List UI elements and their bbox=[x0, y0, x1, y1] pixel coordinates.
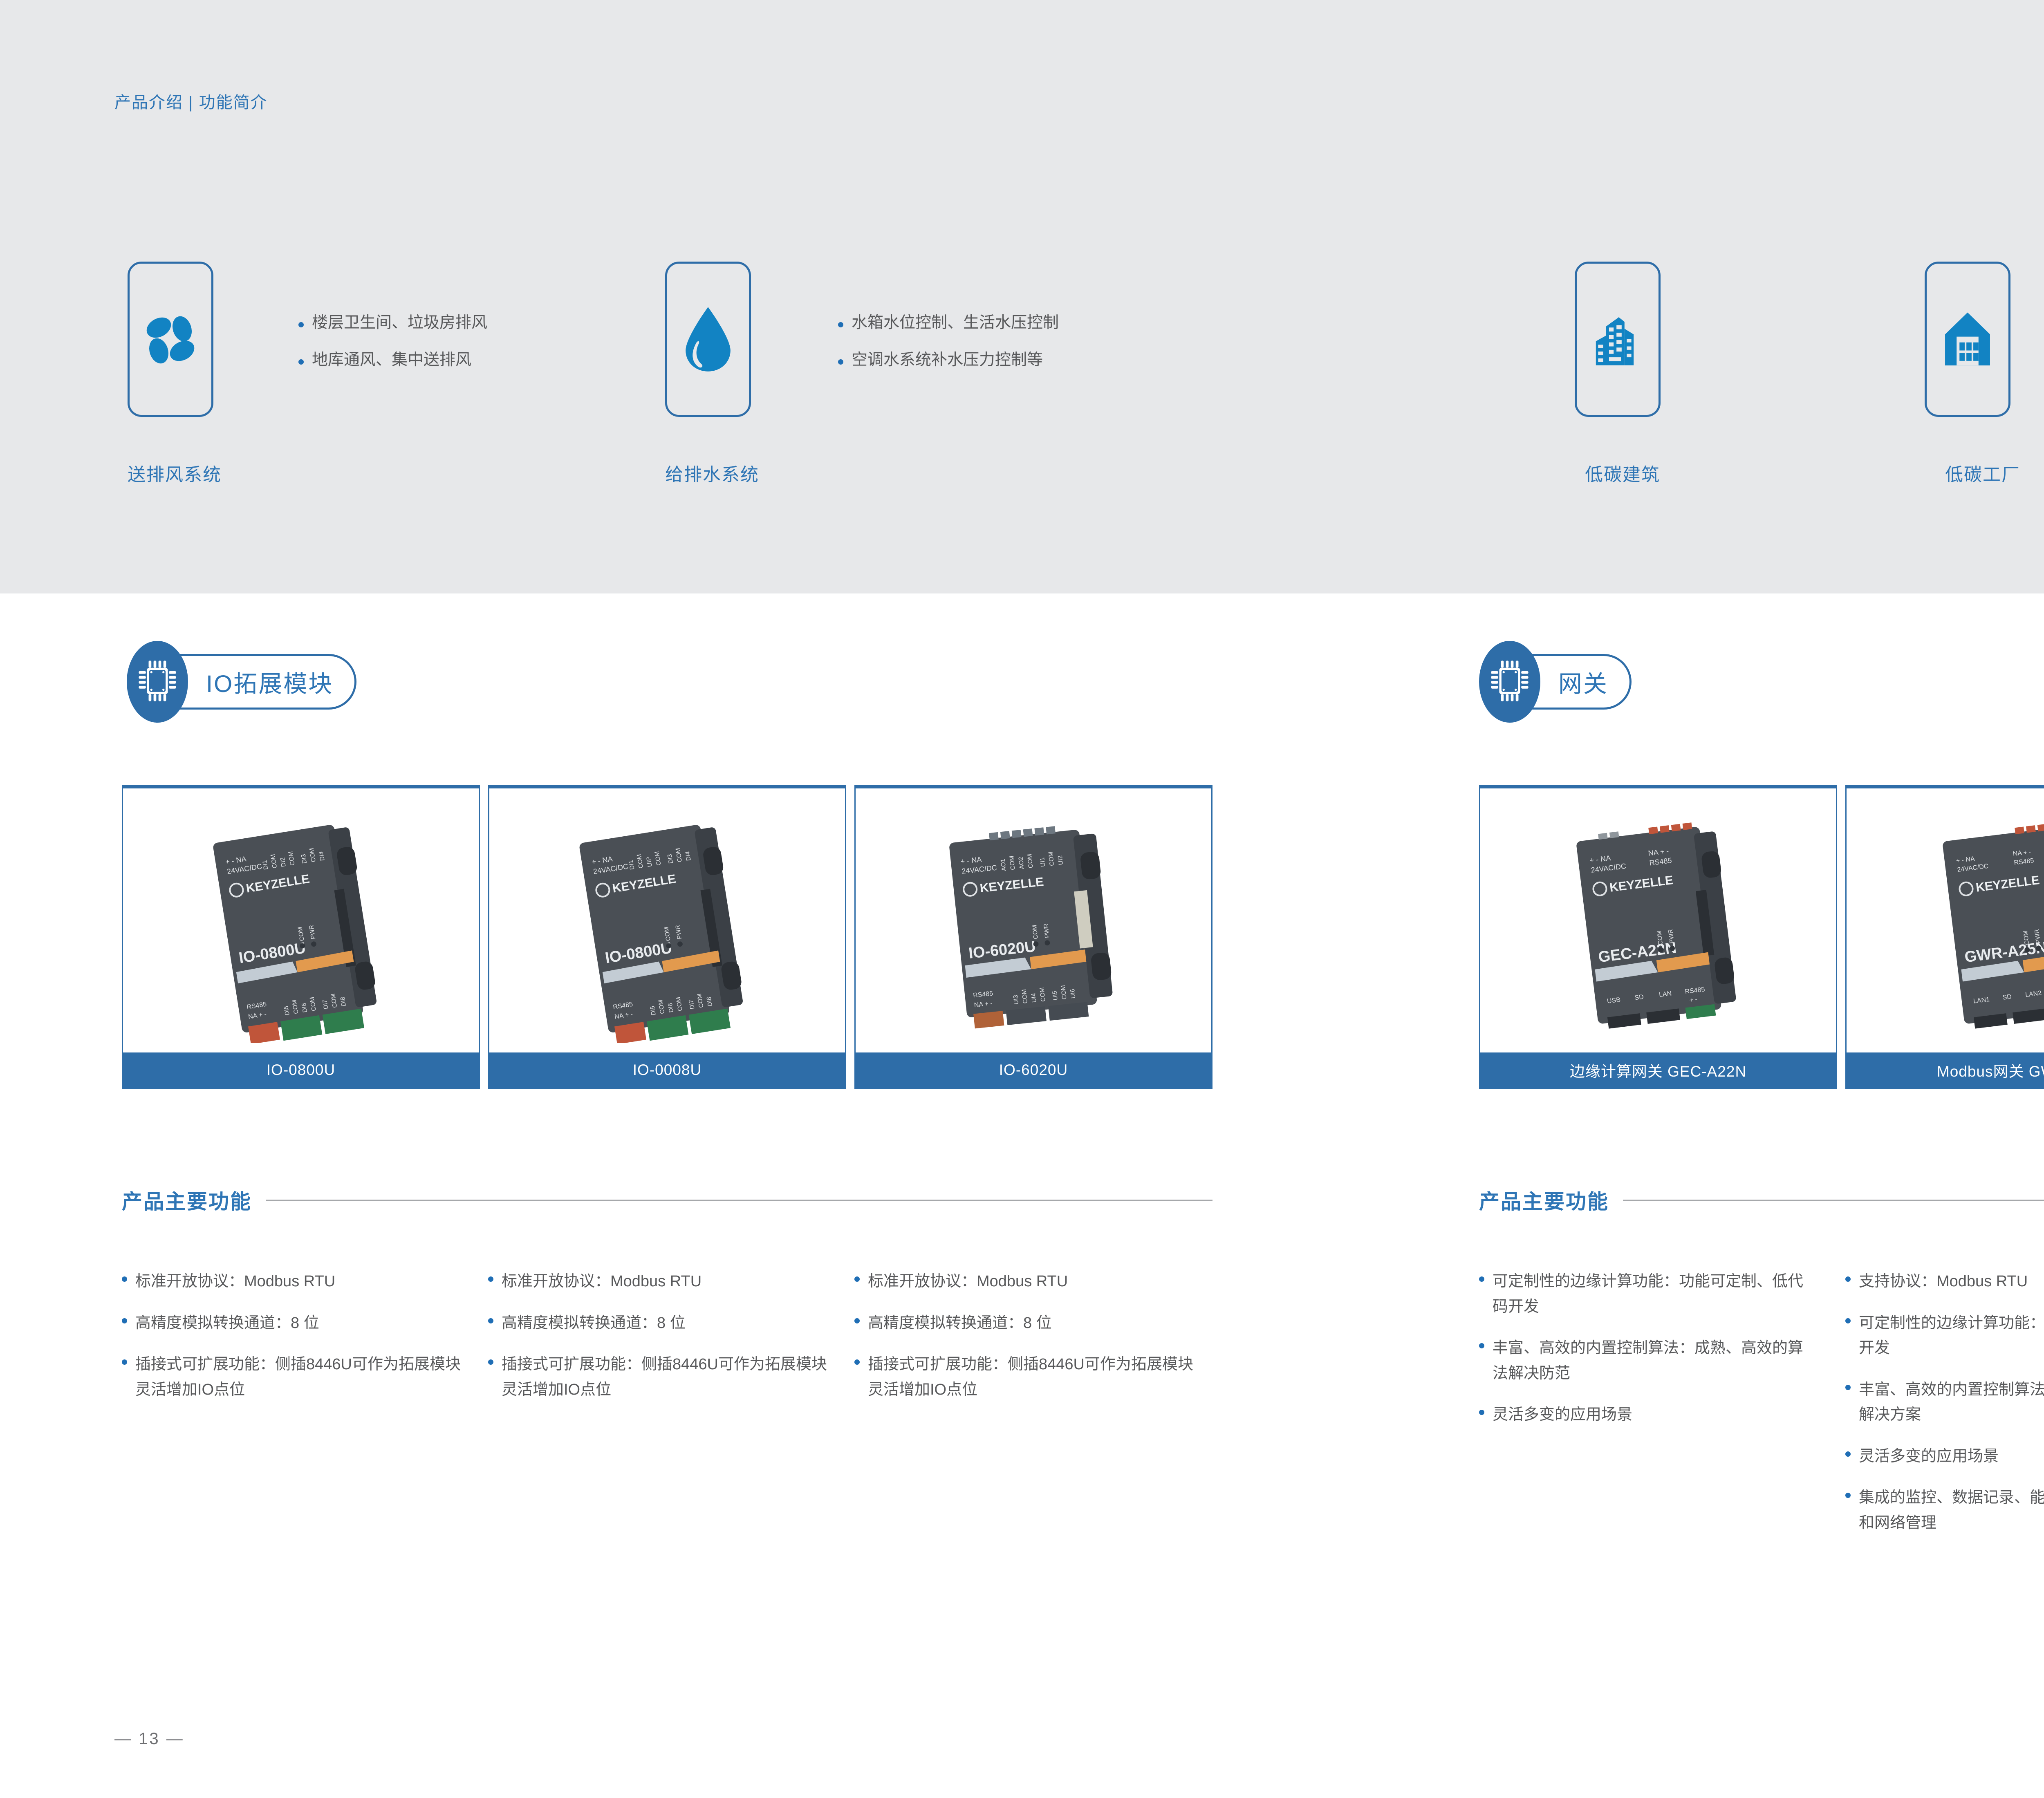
bullet-dot bbox=[1845, 1493, 1851, 1498]
product-image-gwr-a25n: + - NA 24VAC/DC NA + - RS485 KEYZELLE GW… bbox=[1847, 788, 2044, 1052]
feature-item: 灵活多变的应用场景 bbox=[1845, 1444, 2044, 1469]
bullet-dot bbox=[1845, 1385, 1851, 1390]
svg-text:UI2: UI2 bbox=[1057, 855, 1065, 865]
bullet-dot bbox=[854, 1318, 860, 1323]
product-label-gec-a22n: 边缘计算网关 GEC-A22N bbox=[1480, 1052, 1836, 1088]
feature-item: 集成的监控、数据记录、能耗计量、报警、调度和网络管理 bbox=[1845, 1485, 2044, 1536]
svg-text:AO2: AO2 bbox=[1018, 856, 1026, 869]
bullet-dot bbox=[122, 1318, 127, 1323]
feature-item: 可定制性的边缘计算功能：功能可定制、低代码开发 bbox=[1479, 1269, 1818, 1319]
bullet-dot bbox=[1479, 1410, 1484, 1415]
svg-text:DI3: DI3 bbox=[300, 853, 308, 864]
feature-text: 插接式可扩展功能：侧插8446U可作为拓展模块灵活增加IO点位 bbox=[135, 1352, 461, 1402]
product-card-io-6020u[interactable]: + - NA 24VAC/DC AO1 COM AO2 COM UI1 COM … bbox=[854, 785, 1213, 1089]
product-card-io-0800u[interactable]: + - NA 24VAC/DC DI1 COM DI2 COM DI3 COM … bbox=[122, 785, 480, 1089]
product-card-gec-a22n[interactable]: + - NA 24VAC/DC NA + - RS485 KEYZELLE GE… bbox=[1479, 785, 1837, 1089]
bullet-dot bbox=[838, 359, 843, 365]
office-building-icon-card bbox=[1575, 262, 1661, 417]
bullet-item: 地库通风、集中送排风 bbox=[298, 352, 487, 368]
feature-text: 可定制性的边缘计算功能：功能可定制、低代码开发 bbox=[1859, 1311, 2044, 1361]
svg-text:DI8: DI8 bbox=[706, 996, 714, 1007]
device-illustration: + - NA 24VAC/DC NA + - RS485 KEYZELLE GE… bbox=[1535, 798, 1781, 1043]
product-label-io-6020u: IO-6020U bbox=[856, 1052, 1211, 1088]
feature-item: 标准开放协议：Modbus RTU bbox=[488, 1269, 827, 1294]
product-image-gec-a22n: + - NA 24VAC/DC NA + - RS485 KEYZELLE GE… bbox=[1480, 788, 1836, 1052]
svg-text:COM: COM bbox=[1038, 987, 1047, 1002]
feature-text: 高精度模拟转换通道：8 位 bbox=[502, 1311, 686, 1336]
svg-text:UI5: UI5 bbox=[1051, 990, 1059, 1001]
feature-text: 标准开放协议：Modbus RTU bbox=[868, 1269, 1068, 1294]
fan-system-label: 送排风系统 bbox=[128, 460, 222, 486]
product-card-io-0008u[interactable]: + - NA 24VAC/DC DI1 COM UIP COM DI3 COM … bbox=[488, 785, 846, 1089]
features-heading-right: 产品主要功能 bbox=[1479, 1185, 2044, 1215]
device-illustration: + - NA 24VAC/DC DI1 COM UIP COM DI3 COM … bbox=[545, 798, 790, 1043]
water-system-label: 给排水系统 bbox=[665, 460, 759, 486]
fan-icon-card bbox=[128, 262, 213, 417]
bullet-item: 水箱水位控制、生活水压控制 bbox=[838, 315, 1059, 331]
features-heading-left: 产品主要功能 bbox=[122, 1185, 1213, 1215]
section-title-pill: IO拓展模块 bbox=[169, 654, 356, 710]
features-heading-text: 产品主要功能 bbox=[122, 1185, 252, 1215]
bullet-dot bbox=[1479, 1343, 1484, 1348]
feature-item: 高精度模拟转换通道：8 位 bbox=[122, 1311, 461, 1336]
feature-text: 标准开放协议：Modbus RTU bbox=[135, 1269, 335, 1294]
factory-icon bbox=[1941, 309, 1994, 369]
svg-text:COM: COM bbox=[1008, 855, 1017, 871]
svg-text:UI6: UI6 bbox=[1069, 989, 1077, 999]
feature-text: 插接式可扩展功能：侧插8446U可作为拓展模块灵活增加IO点位 bbox=[868, 1352, 1202, 1402]
svg-text:UIP: UIP bbox=[645, 856, 654, 867]
svg-text:SD: SD bbox=[1634, 994, 1644, 1002]
product-image-io-6020u: + - NA 24VAC/DC AO1 COM AO2 COM UI1 COM … bbox=[856, 788, 1211, 1052]
bullet-dot bbox=[122, 1276, 127, 1282]
bullet-dot bbox=[122, 1359, 127, 1365]
svg-text:COM: COM bbox=[1047, 851, 1056, 867]
bullet-dot bbox=[854, 1276, 860, 1282]
svg-text:DI7: DI7 bbox=[321, 999, 329, 1010]
heading-rule bbox=[266, 1200, 1213, 1201]
svg-text:DI6: DI6 bbox=[667, 1003, 675, 1013]
feature-item: 插接式可扩展功能：侧插8446U可作为拓展模块灵活增加IO点位 bbox=[488, 1352, 827, 1402]
bullet-item: 空调水系统补水压力控制等 bbox=[838, 352, 1059, 368]
bullet-dot bbox=[1845, 1276, 1851, 1282]
bullet-item: 楼层卫生间、垃圾房排风 bbox=[298, 315, 487, 331]
feature-text: 灵活多变的应用场景 bbox=[1493, 1402, 1632, 1428]
svg-text:COM: COM bbox=[1021, 989, 1029, 1004]
feature-item: 可定制性的边缘计算功能：功能可定制、低代码开发 bbox=[1845, 1311, 2044, 1361]
fan-icon bbox=[140, 307, 201, 372]
svg-text:DI3: DI3 bbox=[666, 853, 675, 864]
svg-text:COM: COM bbox=[1031, 925, 1040, 940]
feature-column-io-1: 标准开放协议：Modbus RTU 高精度模拟转换通道：8 位 插接式可扩展功能… bbox=[122, 1269, 461, 1419]
feature-column-io-3: 标准开放协议：Modbus RTU 高精度模拟转换通道：8 位 插接式可扩展功能… bbox=[854, 1269, 1202, 1419]
feature-item: 灵活多变的应用场景 bbox=[1479, 1402, 1818, 1428]
svg-text:DI6: DI6 bbox=[300, 1003, 309, 1013]
svg-text:DI8: DI8 bbox=[339, 996, 347, 1007]
svg-text:UI3: UI3 bbox=[1012, 994, 1020, 1005]
water-drop-icon bbox=[682, 305, 734, 374]
feature-item: 支持协议：Modbus RTU bbox=[1845, 1269, 2044, 1294]
svg-text:DI1: DI1 bbox=[261, 860, 269, 870]
svg-text:DI5: DI5 bbox=[282, 1005, 291, 1016]
device-illustration: + - NA 24VAC/DC DI1 COM DI2 COM DI3 COM … bbox=[178, 798, 424, 1043]
bullet-dot bbox=[488, 1359, 493, 1365]
feature-text: 丰富、高效的内置控制算法：成熟、高效的算法解决防范 bbox=[1493, 1336, 1818, 1386]
feature-item: 标准开放协议：Modbus RTU bbox=[854, 1269, 1202, 1294]
bullet-text: 空调水系统补水压力控制等 bbox=[852, 352, 1043, 368]
feature-item: 高精度模拟转换通道：8 位 bbox=[854, 1311, 1202, 1336]
svg-text:COM: COM bbox=[1060, 985, 1068, 1000]
bullet-text: 水箱水位控制、生活水压控制 bbox=[852, 315, 1059, 331]
bullet-text: 楼层卫生间、垃圾房排风 bbox=[312, 315, 487, 331]
feature-text: 灵活多变的应用场景 bbox=[1859, 1444, 1999, 1469]
svg-text:+ -: + - bbox=[1689, 996, 1697, 1004]
bullet-text: 地库通风、集中送排风 bbox=[312, 352, 471, 368]
product-label-io-0008u: IO-0008U bbox=[489, 1052, 845, 1088]
bullet-dot bbox=[298, 359, 304, 365]
bullet-dot bbox=[298, 322, 304, 327]
top-gray-band bbox=[0, 0, 2044, 593]
svg-text:DI1: DI1 bbox=[628, 860, 636, 870]
svg-text:DI2: DI2 bbox=[279, 857, 287, 867]
section-header-io-modules: IO拓展模块 bbox=[127, 641, 442, 723]
feature-text: 高精度模拟转换通道：8 位 bbox=[868, 1311, 1052, 1336]
feature-item: 标准开放协议：Modbus RTU bbox=[122, 1269, 461, 1294]
product-card-gwr-a25n[interactable]: + - NA 24VAC/DC NA + - RS485 KEYZELLE GW… bbox=[1845, 785, 2044, 1089]
feature-text: 插接式可扩展功能：侧插8446U可作为拓展模块灵活增加IO点位 bbox=[502, 1352, 827, 1402]
feature-text: 支持协议：Modbus RTU bbox=[1859, 1269, 2028, 1294]
feature-item: 丰富、高效的内置控制算法：成熟、高效的算法解决防范 bbox=[1479, 1336, 1818, 1386]
feature-column-gw-2: 支持协议：Modbus RTU 可定制性的边缘计算功能：功能可定制、低代码开发 … bbox=[1845, 1269, 2044, 1552]
svg-text:UI4: UI4 bbox=[1030, 993, 1038, 1003]
feature-text: 可定制性的边缘计算功能：功能可定制、低代码开发 bbox=[1493, 1269, 1818, 1319]
svg-text:DI5: DI5 bbox=[649, 1005, 657, 1016]
product-label-io-0800u: IO-0800U bbox=[123, 1052, 479, 1088]
section-title-text: IO拓展模块 bbox=[206, 665, 333, 699]
device-illustration: + - NA 24VAC/DC NA + - RS485 KEYZELLE GW… bbox=[1902, 798, 2044, 1043]
product-label-gwr-a25n: Modbus网关 GWR-A25N bbox=[1847, 1052, 2044, 1088]
feature-text: 高精度模拟转换通道：8 位 bbox=[135, 1311, 319, 1336]
svg-text:DI4: DI4 bbox=[684, 851, 692, 861]
feature-item: 插接式可扩展功能：侧插8446U可作为拓展模块灵活增加IO点位 bbox=[854, 1352, 1202, 1402]
bullet-dot bbox=[1845, 1451, 1851, 1457]
device-illustration: + - NA 24VAC/DC AO1 COM AO2 COM UI1 COM … bbox=[907, 798, 1160, 1043]
svg-text:DI7: DI7 bbox=[688, 999, 696, 1010]
svg-text:DI4: DI4 bbox=[318, 851, 326, 861]
catalog-spread: 产品介绍 | 功能简介 产品介绍 | 功能简介 送排风系统 楼层卫生间、垃圾房排… bbox=[0, 0, 2044, 1798]
section-title-text: 网关 bbox=[1558, 665, 1608, 699]
feature-item: 丰富、高效的内置控制算法：成熟、高效的算法解决方案 bbox=[1845, 1377, 2044, 1428]
feature-column-io-2: 标准开放协议：Modbus RTU 高精度模拟转换通道：8 位 插接式可扩展功能… bbox=[488, 1269, 827, 1419]
svg-text:PWR: PWR bbox=[1042, 923, 1051, 938]
water-drop-icon-card bbox=[665, 262, 751, 417]
scene-label-low-carbon-building: 低碳建筑 bbox=[1585, 460, 1660, 486]
section-header-gateway: 网关 bbox=[1479, 641, 1732, 723]
factory-icon-card bbox=[1925, 262, 2010, 417]
chip-icon-badge bbox=[127, 641, 188, 723]
page-number-left: — 13 — bbox=[114, 1730, 184, 1748]
bullet-dot bbox=[488, 1318, 493, 1323]
feature-item: 高精度模拟转换通道：8 位 bbox=[488, 1311, 827, 1336]
running-header-left: 产品介绍 | 功能简介 bbox=[114, 89, 268, 113]
feature-text: 集成的监控、数据记录、能耗计量、报警、调度和网络管理 bbox=[1859, 1485, 2044, 1536]
chip-icon bbox=[1490, 658, 1530, 705]
product-image-io-0008u: + - NA 24VAC/DC DI1 COM UIP COM DI3 COM … bbox=[489, 788, 845, 1052]
office-building-icon bbox=[1589, 309, 1646, 370]
feature-column-gw-1: 可定制性的边缘计算功能：功能可定制、低代码开发 丰富、高效的内置控制算法：成熟、… bbox=[1479, 1269, 1818, 1444]
feature-item: 插接式可扩展功能：侧插8446U可作为拓展模块灵活增加IO点位 bbox=[122, 1352, 461, 1402]
chip-icon-badge bbox=[1479, 641, 1540, 723]
feature-text: 标准开放协议：Modbus RTU bbox=[502, 1269, 702, 1294]
heading-rule bbox=[1623, 1200, 2044, 1201]
svg-text:UI1: UI1 bbox=[1039, 857, 1047, 867]
svg-text:COM: COM bbox=[1026, 853, 1035, 869]
scene-label-low-carbon-factory: 低碳工厂 bbox=[1945, 460, 2020, 486]
svg-text:AO1: AO1 bbox=[1000, 858, 1008, 871]
bullet-dot bbox=[854, 1359, 860, 1365]
chip-icon bbox=[137, 658, 177, 705]
bullet-dot bbox=[838, 322, 843, 327]
water-system-bullets: 水箱水位控制、生活水压控制 空调水系统补水压力控制等 bbox=[838, 315, 1059, 389]
product-image-io-0800u: + - NA 24VAC/DC DI1 COM DI2 COM DI3 COM … bbox=[123, 788, 479, 1052]
bullet-dot bbox=[1479, 1276, 1484, 1282]
features-heading-text: 产品主要功能 bbox=[1479, 1185, 1609, 1215]
svg-text:SD: SD bbox=[2002, 993, 2012, 1001]
fan-system-bullets: 楼层卫生间、垃圾房排风 地库通风、集中送排风 bbox=[298, 315, 487, 389]
bullet-dot bbox=[1845, 1318, 1851, 1323]
bullet-dot bbox=[488, 1276, 493, 1282]
feature-text: 丰富、高效的内置控制算法：成熟、高效的算法解决方案 bbox=[1859, 1377, 2044, 1428]
